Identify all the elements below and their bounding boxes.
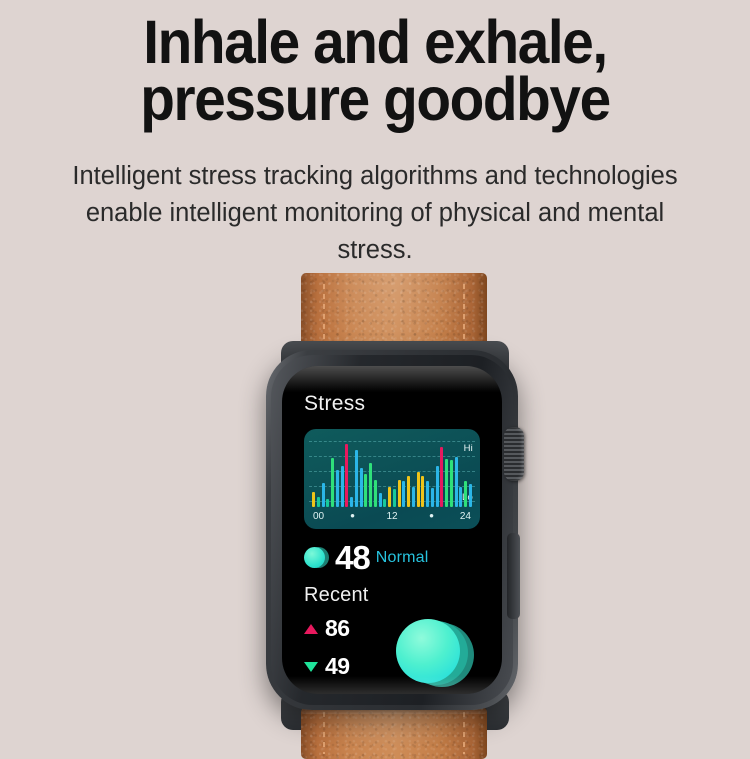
watch-display[interactable]: Stress Hi Lo 00•12•24 (282, 366, 502, 694)
screen-title: Stress (304, 392, 480, 416)
band-grain-texture (301, 707, 487, 759)
chart-bar (464, 481, 467, 507)
chart-bar (393, 489, 396, 507)
page-headline: Inhale and exhale, pressure goodbye (26, 14, 724, 128)
chart-bar (402, 481, 405, 507)
chart-bar (374, 480, 377, 507)
watch-crown-button[interactable] (504, 427, 524, 481)
chart-bar (326, 499, 329, 507)
stress-orb-graphic[interactable] (402, 619, 474, 691)
stress-screen: Stress Hi Lo 00•12•24 (282, 366, 502, 694)
watch-side-button[interactable] (507, 533, 520, 619)
watch-case: Stress Hi Lo 00•12•24 (266, 350, 518, 710)
chart-bar (436, 466, 439, 507)
chart-bar (383, 499, 386, 507)
chart-bar (459, 487, 462, 507)
stress-score-label: Normal (376, 543, 429, 573)
chart-bar (322, 483, 325, 507)
chart-bar (417, 472, 420, 507)
chart-bar (369, 463, 372, 507)
chart-x-tick: 24 (460, 511, 471, 522)
chart-bar (455, 457, 458, 507)
chart-bar (355, 450, 358, 507)
chart-bar (412, 487, 415, 507)
arrow-down-icon (304, 662, 318, 672)
chart-bar (421, 476, 424, 507)
chart-x-tick: • (350, 511, 355, 521)
page-subheadline: Intelligent stress tracking algorithms a… (70, 158, 680, 269)
band-stitch-right (463, 712, 465, 754)
chart-bars (312, 439, 472, 507)
chart-bar (388, 487, 391, 507)
headline-line-2: pressure goodbye (26, 71, 724, 128)
chart-bar (450, 460, 453, 507)
chart-bar (317, 497, 320, 507)
chart-bar (440, 447, 443, 507)
chart-bar (469, 484, 472, 507)
stress-score-value: 48 (335, 543, 370, 573)
chart-bar (431, 488, 434, 507)
stress-chart[interactable]: Hi Lo 00•12•24 (304, 429, 480, 529)
chart-bar (426, 481, 429, 507)
chart-bar (345, 444, 348, 507)
chart-x-tick: • (429, 511, 434, 521)
chart-bar (407, 476, 410, 507)
watch-case-inner: Stress Hi Lo 00•12•24 (271, 355, 513, 705)
chart-bar (379, 493, 382, 507)
arrow-up-icon (304, 624, 318, 634)
chart-bar (360, 468, 363, 507)
stress-score-row: 48 Normal (304, 543, 480, 573)
recent-high-value: 86 (325, 615, 350, 642)
chart-bar (312, 492, 315, 507)
chart-bar (445, 459, 448, 507)
chart-x-tick: 12 (386, 511, 397, 522)
recent-readings: 86 49 (304, 615, 480, 694)
stress-indicator-dot-icon (304, 546, 329, 571)
chart-x-tick: 00 (313, 511, 324, 522)
chart-bar (341, 466, 344, 507)
band-stitch-left (323, 712, 325, 754)
watch-band-bottom (301, 707, 487, 759)
chart-bar (398, 480, 401, 507)
chart-x-axis: 00•12•24 (313, 511, 471, 525)
recent-low-value: 49 (325, 653, 350, 680)
smartwatch-product-image: Stress Hi Lo 00•12•24 (255, 255, 535, 750)
headline-line-1: Inhale and exhale, (26, 14, 724, 71)
chart-bar (336, 470, 339, 507)
chart-bar (331, 458, 334, 507)
chart-bar (364, 474, 367, 507)
chart-bar (350, 497, 353, 507)
recent-heading: Recent (304, 584, 480, 607)
